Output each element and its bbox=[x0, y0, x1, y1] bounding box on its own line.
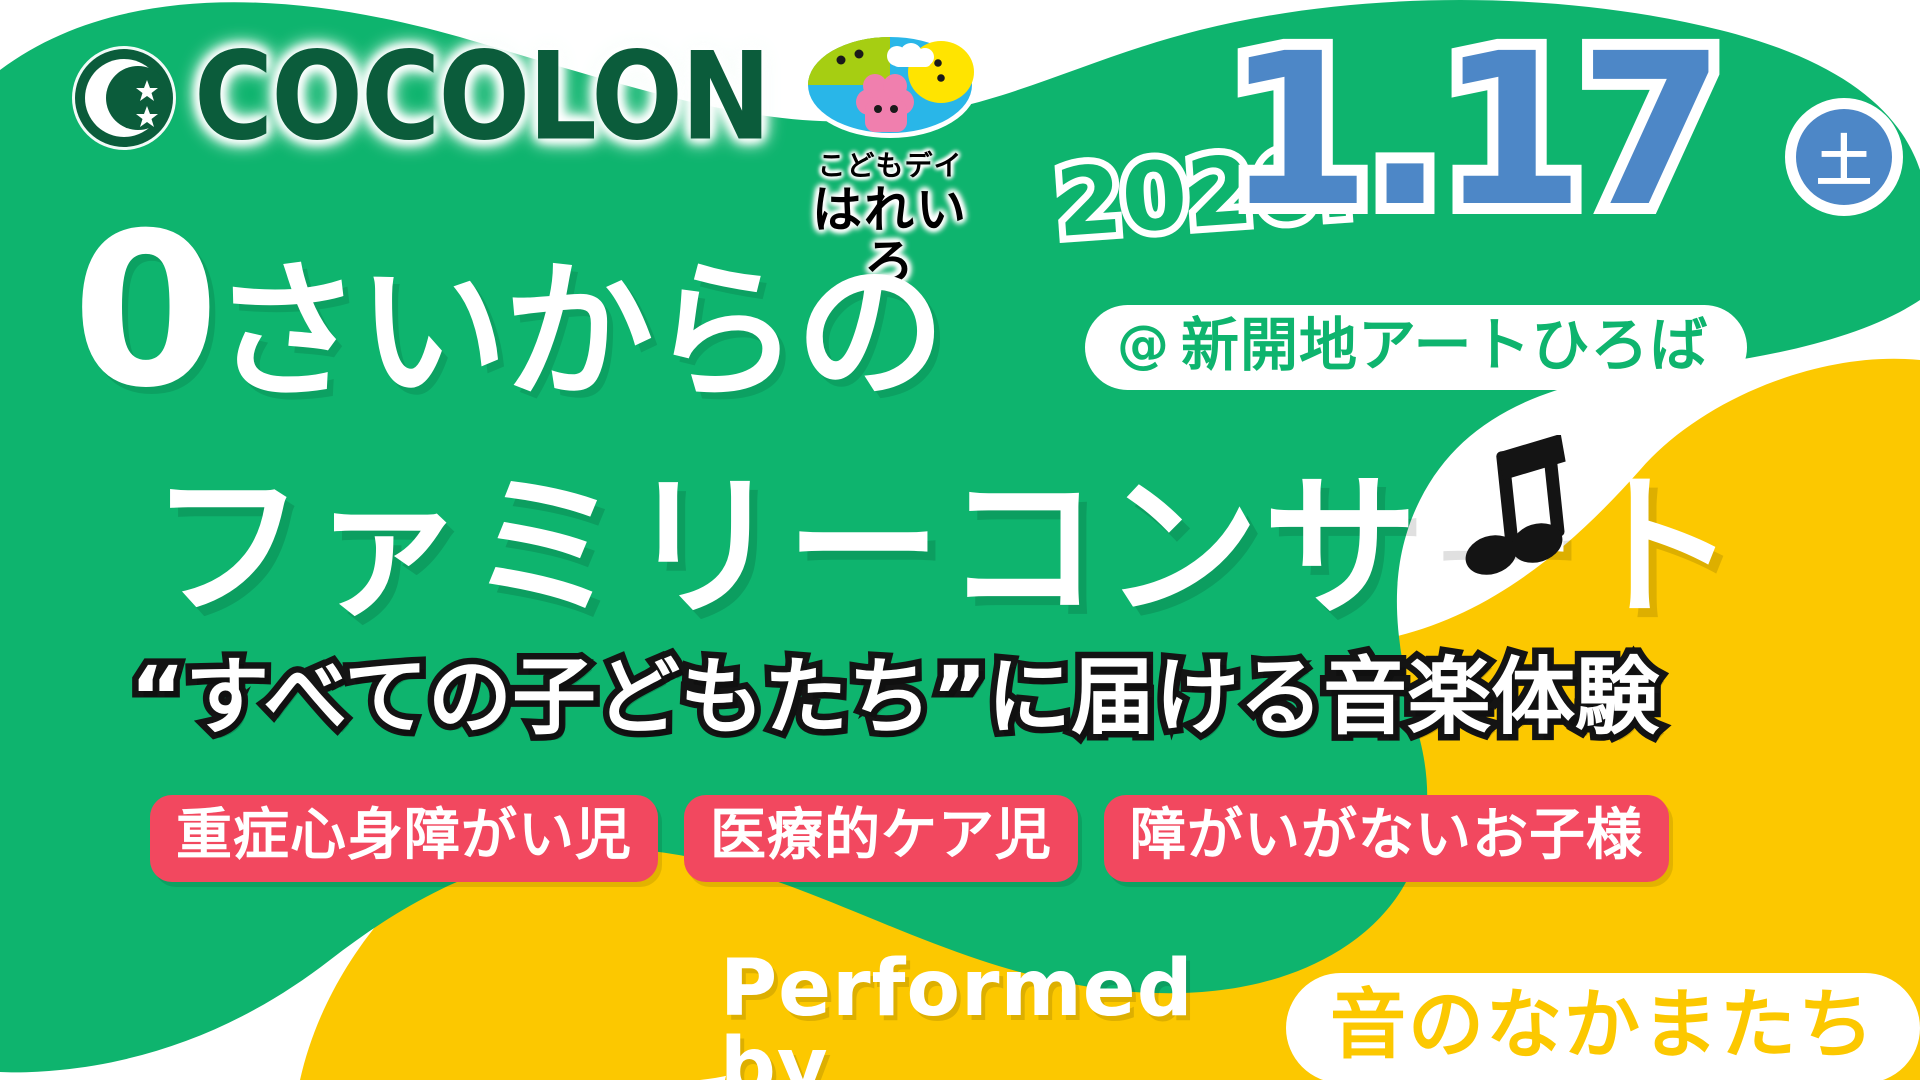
audience-badges: 重症心身障がい児 医療的ケア児 障がいがないお子様 bbox=[150, 795, 1669, 882]
title-age-number: 0 bbox=[72, 187, 212, 434]
venue-pill: @ 新開地アートひろば bbox=[1085, 305, 1747, 390]
hareiro-eyebrow: こどもデイ bbox=[790, 144, 990, 184]
performer-pill: 音のなかまたち bbox=[1286, 973, 1920, 1080]
venue-name: 新開地アートひろば bbox=[1181, 315, 1709, 376]
date-day: 1.17 bbox=[1225, 26, 1719, 236]
event-date: 2026. 1.17 土 bbox=[1040, 20, 1900, 270]
at-symbol-icon: @ bbox=[1117, 319, 1169, 371]
cocolon-logo: COCOLON bbox=[70, 44, 769, 152]
audience-badge: 医療的ケア児 bbox=[684, 795, 1078, 882]
audience-badge: 重症心身障がい児 bbox=[150, 795, 658, 882]
poster-canvas: COCOLON bbox=[0, 0, 1920, 1080]
audience-badge: 障がいがないお子様 bbox=[1104, 795, 1669, 882]
performed-by-row: Performed by 音のなかまたち bbox=[720, 950, 1920, 1080]
title-line-1: 0さいからの bbox=[72, 205, 942, 417]
performed-by-label: Performed by bbox=[720, 950, 1264, 1080]
title-age-suffix: さいからの bbox=[212, 246, 942, 420]
crescent-moon-stars-icon bbox=[70, 44, 178, 152]
performer-name: 音のなかまたち bbox=[1330, 980, 1876, 1069]
subtitle-text: “すべての子どもたち”に届ける音楽体験 bbox=[130, 655, 1659, 739]
hareiro-oval-mascot-icon bbox=[801, 30, 979, 140]
cocolon-wordmark: COCOLON bbox=[194, 38, 769, 159]
music-note-icon bbox=[1455, 435, 1585, 585]
date-day-of-week-badge: 土 bbox=[1785, 98, 1903, 216]
